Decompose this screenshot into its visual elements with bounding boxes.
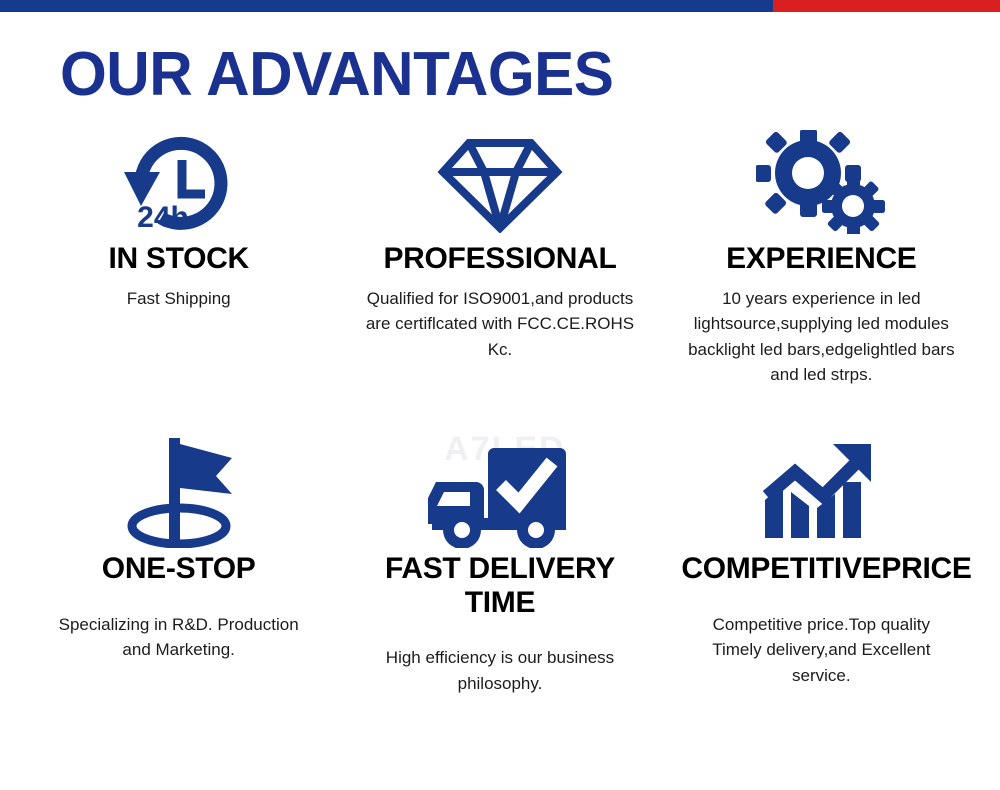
clock-icon-label: 24h (137, 201, 189, 232)
24h-clock-icon: 24h (119, 128, 239, 236)
diamond-icon (436, 128, 564, 236)
advantage-description: Specializing in R&D. Production and Mark… (44, 612, 314, 663)
advantage-card-experience: EXPERIENCE 10 years experience in led li… (661, 128, 982, 428)
advantages-grid: 24h IN STOCK Fast Shipping PROFESSIONAL … (0, 128, 1000, 696)
top-accent-bar-red-segment (773, 0, 1000, 12)
advantage-title: PROFESSIONAL (383, 242, 616, 276)
advantage-description: Fast Shipping (127, 286, 231, 312)
gears-icon (756, 128, 886, 236)
delivery-truck-check-icon: A7LED (424, 428, 576, 550)
advantage-card-in-stock: 24h IN STOCK Fast Shipping (18, 128, 339, 428)
advantage-description: Qualified for ISO9001,and products are c… (365, 286, 635, 363)
growth-chart-icon (761, 428, 881, 550)
advantage-title: FAST DELIVERY TIME (360, 552, 640, 619)
advantage-card-professional: PROFESSIONAL Qualified for ISO9001,and p… (339, 128, 660, 428)
advantage-title: IN STOCK (108, 242, 248, 276)
top-accent-bar-blue-segment (0, 0, 773, 12)
advantage-description: High efficiency is our business philosop… (365, 645, 635, 696)
advantage-title: ONE-STOP (102, 552, 256, 586)
top-accent-bar (0, 0, 1000, 12)
advantage-title: COMPETITIVEPRICE (681, 552, 961, 586)
page-title: OUR ADVANTAGES (60, 44, 972, 106)
advantage-card-fast-delivery: A7LED FAST DELIVERY TIME High efficien (339, 428, 660, 696)
advantage-title: EXPERIENCE (726, 242, 916, 276)
advantage-description: 10 years experience in led lightsource,s… (686, 286, 956, 388)
advantage-description: Competitive price.Top quality Timely del… (686, 612, 956, 689)
advantage-card-one-stop: ONE-STOP Specializing in R&D. Production… (18, 428, 339, 696)
advantage-card-competitive-price: COMPETITIVEPRICE Competitive price.Top q… (661, 428, 982, 696)
golf-flag-icon (120, 428, 238, 550)
